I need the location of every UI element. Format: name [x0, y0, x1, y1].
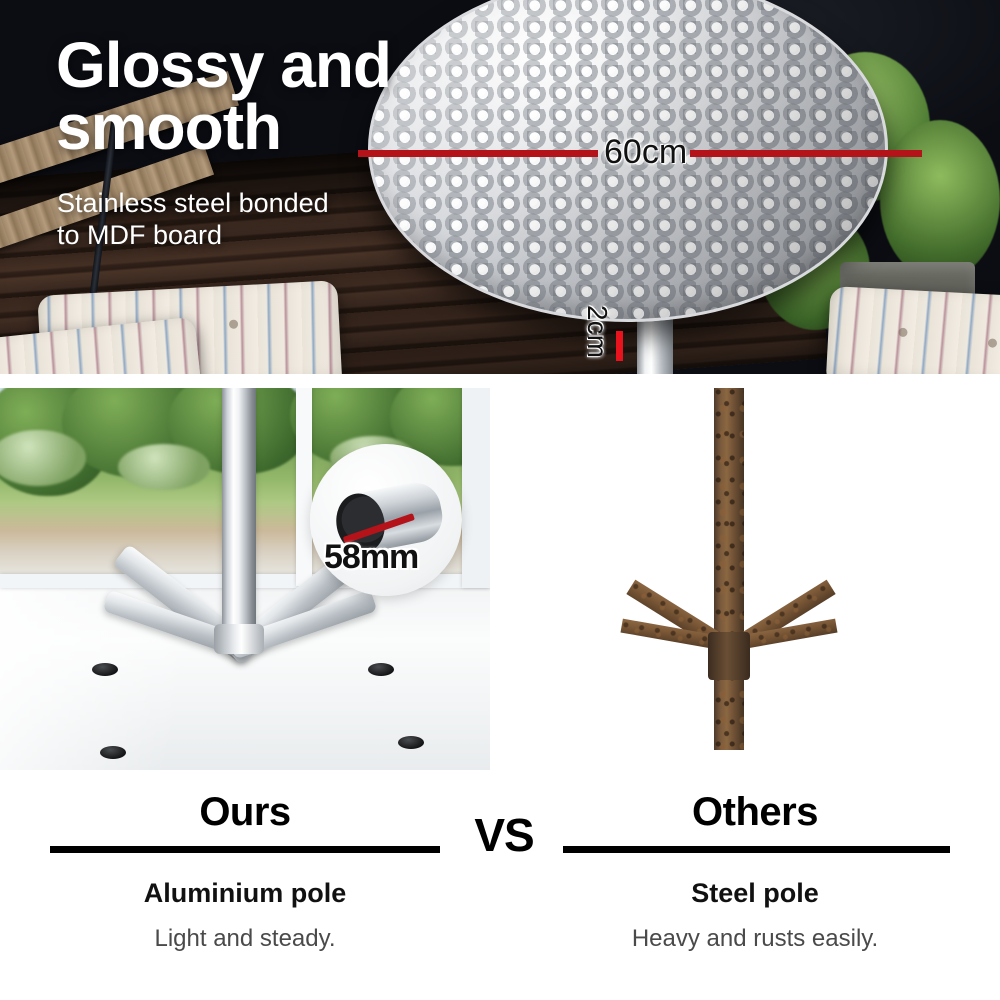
- pole-diameter-callout: 58mm: [310, 444, 462, 596]
- hero-subtitle-line1: Stainless steel bonded: [57, 188, 329, 220]
- vs-label: VS: [445, 808, 563, 862]
- table-pole-hero: [637, 318, 673, 374]
- ours-heading: Ours: [45, 790, 445, 835]
- foliage: [880, 120, 1000, 280]
- base-foot: [100, 746, 126, 759]
- hero-headline-line1: Glossy and: [56, 34, 391, 96]
- comparison-photo-row: [0, 388, 1000, 770]
- pole-diameter-label: 58mm: [324, 538, 418, 577]
- others-heading: Others: [555, 790, 955, 835]
- base-hub: [214, 624, 264, 654]
- steel-base-hub: [708, 632, 750, 680]
- others-material: Steel pole: [555, 878, 955, 909]
- hero-panel: 60cm 2cm Glossy and smooth Stainless ste…: [0, 0, 1000, 374]
- ours-benefit: Light and steady.: [45, 925, 445, 953]
- window-mullion: [296, 388, 312, 586]
- hero-subtitle: Stainless steel bonded to MDF board: [57, 188, 329, 251]
- base-foot: [92, 663, 118, 676]
- base-foot: [368, 663, 394, 676]
- hero-headline-line2: smooth: [56, 96, 391, 158]
- diameter-label: 60cm: [604, 133, 687, 172]
- thickness-tick: [616, 331, 623, 361]
- divider-rule-right: [563, 846, 950, 853]
- hero-subtitle-line2: to MDF board: [57, 220, 329, 252]
- diameter-line-right: [690, 150, 922, 157]
- steel-pole: [714, 388, 744, 750]
- thickness-label: 2cm: [581, 305, 613, 358]
- rusty-base-photo: [500, 388, 1000, 770]
- hero-headline: Glossy and smooth: [56, 34, 391, 158]
- window-frame-right: [462, 388, 490, 588]
- aluminium-pole: [222, 388, 256, 638]
- others-drawback: Heavy and rusts easily.: [555, 925, 955, 953]
- divider-rule-left: [50, 846, 440, 853]
- ours-material: Aluminium pole: [45, 878, 445, 909]
- product-feature-infographic: 60cm 2cm Glossy and smooth Stainless ste…: [0, 0, 1000, 1000]
- ours-vs-others-block: Ours Others VS Aluminium pole Steel pole…: [0, 790, 1000, 1000]
- base-foot: [398, 736, 424, 749]
- diameter-line-left: [358, 150, 598, 157]
